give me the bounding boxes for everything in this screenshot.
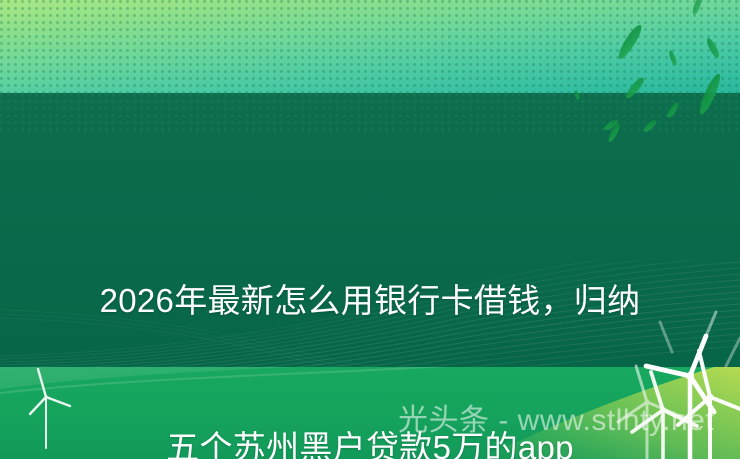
halftone-dots-icon: [0, 0, 740, 93]
halftone-dots-icon-secondary: [0, 93, 740, 135]
site-watermark: 光头条 - www.stlhty.net: [398, 404, 714, 438]
banner-title-line-1: 2026年最新怎么用银行卡借钱，归纳: [0, 276, 740, 325]
promo-banner: 2026年最新怎么用银行卡借钱，归纳 五个苏州黑户贷款5万的app 光头条 - …: [0, 0, 740, 459]
